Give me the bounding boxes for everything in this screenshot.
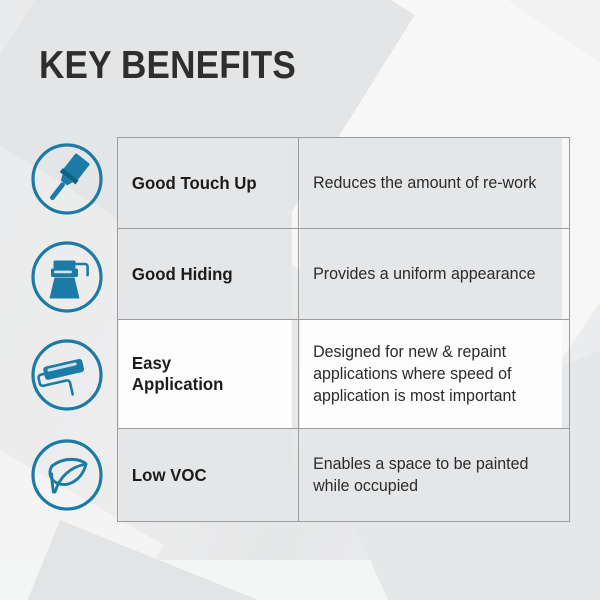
paint-roller-icon xyxy=(27,335,107,415)
benefit-description-line: Designed for new & repaint xyxy=(313,341,548,363)
benefit-description-cell: Reduces the amount of re-work xyxy=(299,138,562,229)
background-shape-7 xyxy=(430,0,600,155)
paint-roller-bucket-icon xyxy=(27,237,107,317)
benefit-description-line: Provides a uniform appearance xyxy=(313,263,548,285)
benefit-description-line: while occupied xyxy=(313,475,548,497)
benefit-description-cell: Provides a uniform appearance xyxy=(299,229,562,320)
table-row: Low VOC Enables a space to be painted wh… xyxy=(118,429,570,522)
benefit-description-line: applications where speed of xyxy=(313,363,548,385)
benefit-description-line: Enables a space to be painted xyxy=(313,453,548,475)
background-shape-6 xyxy=(0,560,600,600)
benefit-label-cell: Easy Application xyxy=(118,320,292,429)
page-title: KEY BENEFITS xyxy=(39,44,296,88)
benefit-label-line: Good Hiding xyxy=(131,264,277,285)
benefit-label-cell: Good Touch Up xyxy=(118,138,292,229)
table-row: Easy Application Designed for new & repa… xyxy=(118,320,570,429)
benefit-description-line: Reduces the amount of re-work xyxy=(313,172,548,194)
benefit-label-line: Easy xyxy=(131,353,277,374)
benefit-label-line: Good Touch Up xyxy=(131,173,277,194)
leaf-icon xyxy=(27,435,107,515)
table-row: Good Hiding Provides a uniform appearanc… xyxy=(118,229,570,320)
benefit-label-cell: Good Hiding xyxy=(118,229,292,320)
table-row: Good Touch Up Reduces the amount of re-w… xyxy=(118,138,570,229)
benefit-label-line: Low VOC xyxy=(131,465,277,486)
benefits-table: Good Touch Up Reduces the amount of re-w… xyxy=(117,137,570,522)
benefit-description-cell: Designed for new & repaint applications … xyxy=(299,320,562,429)
paintbrush-icon xyxy=(27,139,107,219)
benefit-label-line: Application xyxy=(131,374,277,395)
infographic-page: KEY BENEFITS xyxy=(0,0,600,600)
benefit-description-cell: Enables a space to be painted while occu… xyxy=(299,429,562,522)
benefit-description-line: application is most important xyxy=(313,385,548,407)
benefit-icon-column xyxy=(27,139,107,533)
benefit-label-cell: Low VOC xyxy=(118,429,292,522)
